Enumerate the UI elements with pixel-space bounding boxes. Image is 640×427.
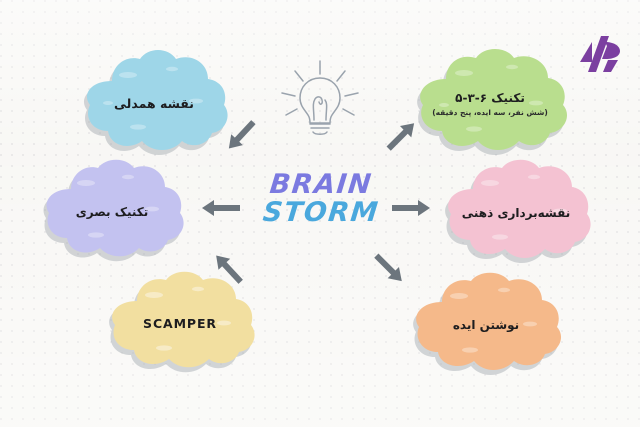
cloud-mind-mapping[interactable]: نقشه‌برداری ذهنی <box>428 155 604 271</box>
page-title: BRAIN STORM <box>246 172 396 227</box>
arrow-east <box>392 200 430 216</box>
arrow-west <box>202 200 240 216</box>
brainstorm-word-brain: BRAIN <box>245 172 398 198</box>
cloud-label-mind-mapping: نقشه‌برداری ذهنی <box>462 205 570 221</box>
cloud-label-scamper: SCAMPER <box>143 316 217 333</box>
cloud-label-empathy-map: نقشه همدلی <box>114 96 194 113</box>
cloud-scamper[interactable]: SCAMPER <box>92 268 268 380</box>
cloud-label-six-three-five-main: تکنیک ۶-۳-۵ <box>455 91 525 105</box>
cloud-label-visual-technique: تکنیک بصری <box>76 204 149 220</box>
cloud-idea-writing[interactable]: نوشتن ایده <box>396 268 576 382</box>
lightbulb-icon <box>276 58 364 140</box>
cloud-empathy-map[interactable]: نقشه همدلی <box>68 45 240 163</box>
brainstorm-infographic: نقشه همدلی تکنیک ۶-۳-۵ (شش نفر، سه ایده،… <box>0 0 640 427</box>
cloud-six-three-five[interactable]: تکنیک ۶-۳-۵ (شش نفر، سه ایده، پنج دقیقه) <box>400 45 580 163</box>
cloud-label-six-three-five: تکنیک ۶-۳-۵ (شش نفر، سه ایده، پنج دقیقه) <box>432 90 548 117</box>
cloud-visual-technique[interactable]: تکنیک بصری <box>28 155 196 269</box>
brainstorm-word-storm: STORM <box>245 200 398 226</box>
brand-logo <box>578 34 622 74</box>
cloud-label-idea-writing: نوشتن ایده <box>453 317 519 333</box>
cloud-sublabel-six-three-five: (شش نفر، سه ایده، پنج دقیقه) <box>432 108 548 118</box>
